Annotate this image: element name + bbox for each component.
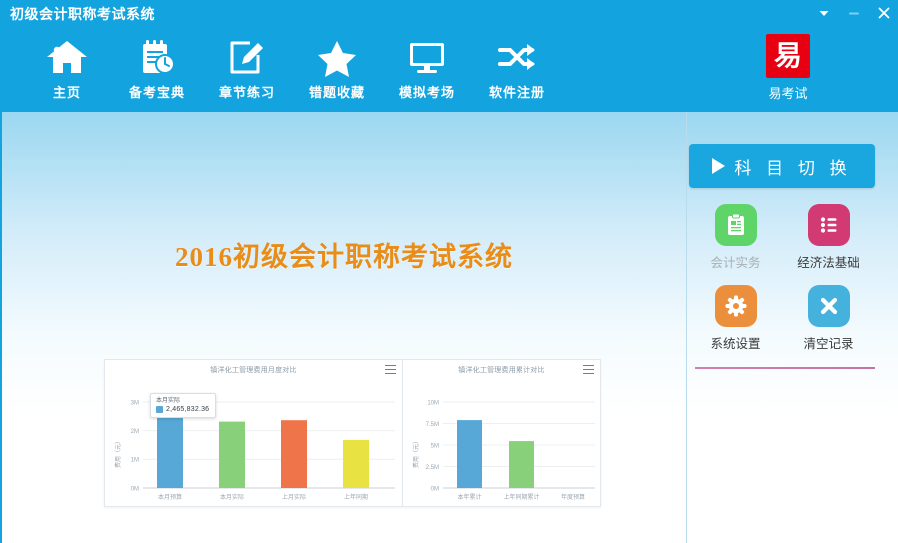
window-title: 初级会计职称考试系统 (10, 4, 155, 24)
charts-container: 镇洋化工管理费用月度对比 费用（元） 3M 2M 1M 0M (104, 359, 601, 507)
main-toolbar: 主页 备考宝典 (0, 26, 898, 112)
svg-text:上月实际: 上月实际 (282, 493, 306, 501)
sidebar-tile-label: 会计实务 (710, 252, 760, 271)
chart-monthly-comparison: 镇洋化工管理费用月度对比 费用（元） 3M 2M 1M 0M (105, 360, 403, 506)
svg-text:0M: 0M (131, 487, 139, 493)
toolbar-item-label: 模拟考场 (399, 82, 455, 101)
chart-tooltip: 本月实际 2,465,832.36 (150, 393, 216, 418)
sidebar-tile-label: 系统设置 (710, 333, 760, 352)
window-controls (816, 0, 892, 26)
star-icon (314, 34, 360, 80)
tooltip-title: 本月实际 (156, 397, 209, 405)
svg-text:上年同期: 上年同期 (344, 493, 368, 501)
toolbar-item-label: 软件注册 (489, 82, 545, 101)
edit-square-icon (224, 34, 270, 80)
toolbar-items: 主页 备考宝典 (22, 26, 562, 112)
clipboard-icon (715, 204, 757, 246)
toolbar-item-study-guide[interactable]: 备考宝典 (112, 26, 202, 112)
sidebar: 科 目 切 换 会计实务 (687, 112, 898, 543)
svg-text:上年同期累计: 上年同期累计 (503, 493, 539, 501)
toolbar-item-label: 备考宝典 (129, 82, 185, 101)
chart-plot-area: 10M 7.5M 5M 2.5M 0M 本年累计 上年同期累计 年度预算 (403, 360, 600, 506)
shuffle-icon (494, 34, 540, 80)
close-icon[interactable] (876, 5, 892, 21)
svg-text:本月实际: 本月实际 (220, 493, 244, 501)
chart-plot-area: 3M 2M 1M 0M 本月预算 本月实际 上月实际 上年同期 (105, 360, 402, 506)
sidebar-tile-grid: 会计实务 经济法基础 (689, 204, 875, 352)
sidebar-tile-label: 经济法基础 (797, 252, 860, 271)
svg-text:年度预算: 年度预算 (561, 493, 585, 501)
svg-text:本年累计: 本年累计 (457, 493, 481, 501)
close-circle-icon (808, 285, 850, 327)
svg-text:10M: 10M (427, 401, 439, 407)
application-window: 初级会计职称考试系统 主页 (0, 0, 898, 543)
sidebar-tile-economic-law[interactable]: 经济法基础 (782, 204, 875, 271)
tooltip-swatch (156, 406, 163, 413)
play-triangle-icon (712, 158, 725, 174)
toolbar-item-mock-exam[interactable]: 模拟考场 (382, 26, 472, 112)
chart-cumulative-comparison: 镇洋化工管理费用累计对比 费用（元） 10M 7.5M 5M 2.5M (403, 360, 600, 506)
chevron-down-icon[interactable] (816, 5, 832, 21)
svg-text:2M: 2M (131, 429, 139, 435)
monitor-icon (404, 34, 450, 80)
toolbar-item-register[interactable]: 软件注册 (472, 26, 562, 112)
toolbar-item-label: 错题收藏 (309, 82, 365, 101)
sidebar-underline (695, 367, 875, 369)
subject-switch-label: 科 目 切 换 (734, 154, 851, 179)
svg-text:5M: 5M (431, 444, 439, 450)
svg-text:2.5M: 2.5M (426, 465, 439, 471)
subject-switch-button[interactable]: 科 目 切 换 (689, 144, 875, 188)
brand-logo[interactable]: 易 易考试 (750, 34, 826, 102)
svg-text:7.5M: 7.5M (426, 422, 439, 428)
list-icon (808, 204, 850, 246)
toolbar-item-label: 主页 (53, 82, 81, 101)
toolbar-item-home[interactable]: 主页 (22, 26, 112, 112)
svg-text:1M: 1M (131, 458, 139, 464)
sidebar-tile-clear-records[interactable]: 清空记录 (782, 285, 875, 352)
svg-text:3M: 3M (131, 401, 139, 407)
sidebar-tile-accounting-practice[interactable]: 会计实务 (689, 204, 782, 271)
sidebar-tile-system-settings[interactable]: 系统设置 (689, 285, 782, 352)
svg-text:本月预算: 本月预算 (158, 493, 182, 501)
svg-text:0M: 0M (431, 487, 439, 493)
toolbar-item-label: 章节练习 (219, 82, 275, 101)
title-bar: 初级会计职称考试系统 (0, 0, 898, 26)
brand-glyph: 易 (766, 34, 810, 78)
page-title: 2016初级会计职称考试系统 (2, 235, 686, 274)
toolbar-item-chapter-practice[interactable]: 章节练习 (202, 26, 292, 112)
brand-label: 易考试 (768, 83, 807, 102)
home-icon (44, 34, 90, 80)
toolbar-item-wrong-favorites[interactable]: 错题收藏 (292, 26, 382, 112)
minimize-icon[interactable] (846, 5, 862, 21)
tooltip-value: 2,465,832.36 (166, 406, 209, 413)
notebook-clock-icon (134, 34, 180, 80)
tooltip-row: 2,465,832.36 (156, 406, 209, 413)
sidebar-tile-label: 清空记录 (803, 333, 853, 352)
gear-icon (715, 285, 757, 327)
main-content-panel: 2016初级会计职称考试系统 镇洋化工管理费用月度对比 费用（元） 3M (2, 112, 686, 543)
